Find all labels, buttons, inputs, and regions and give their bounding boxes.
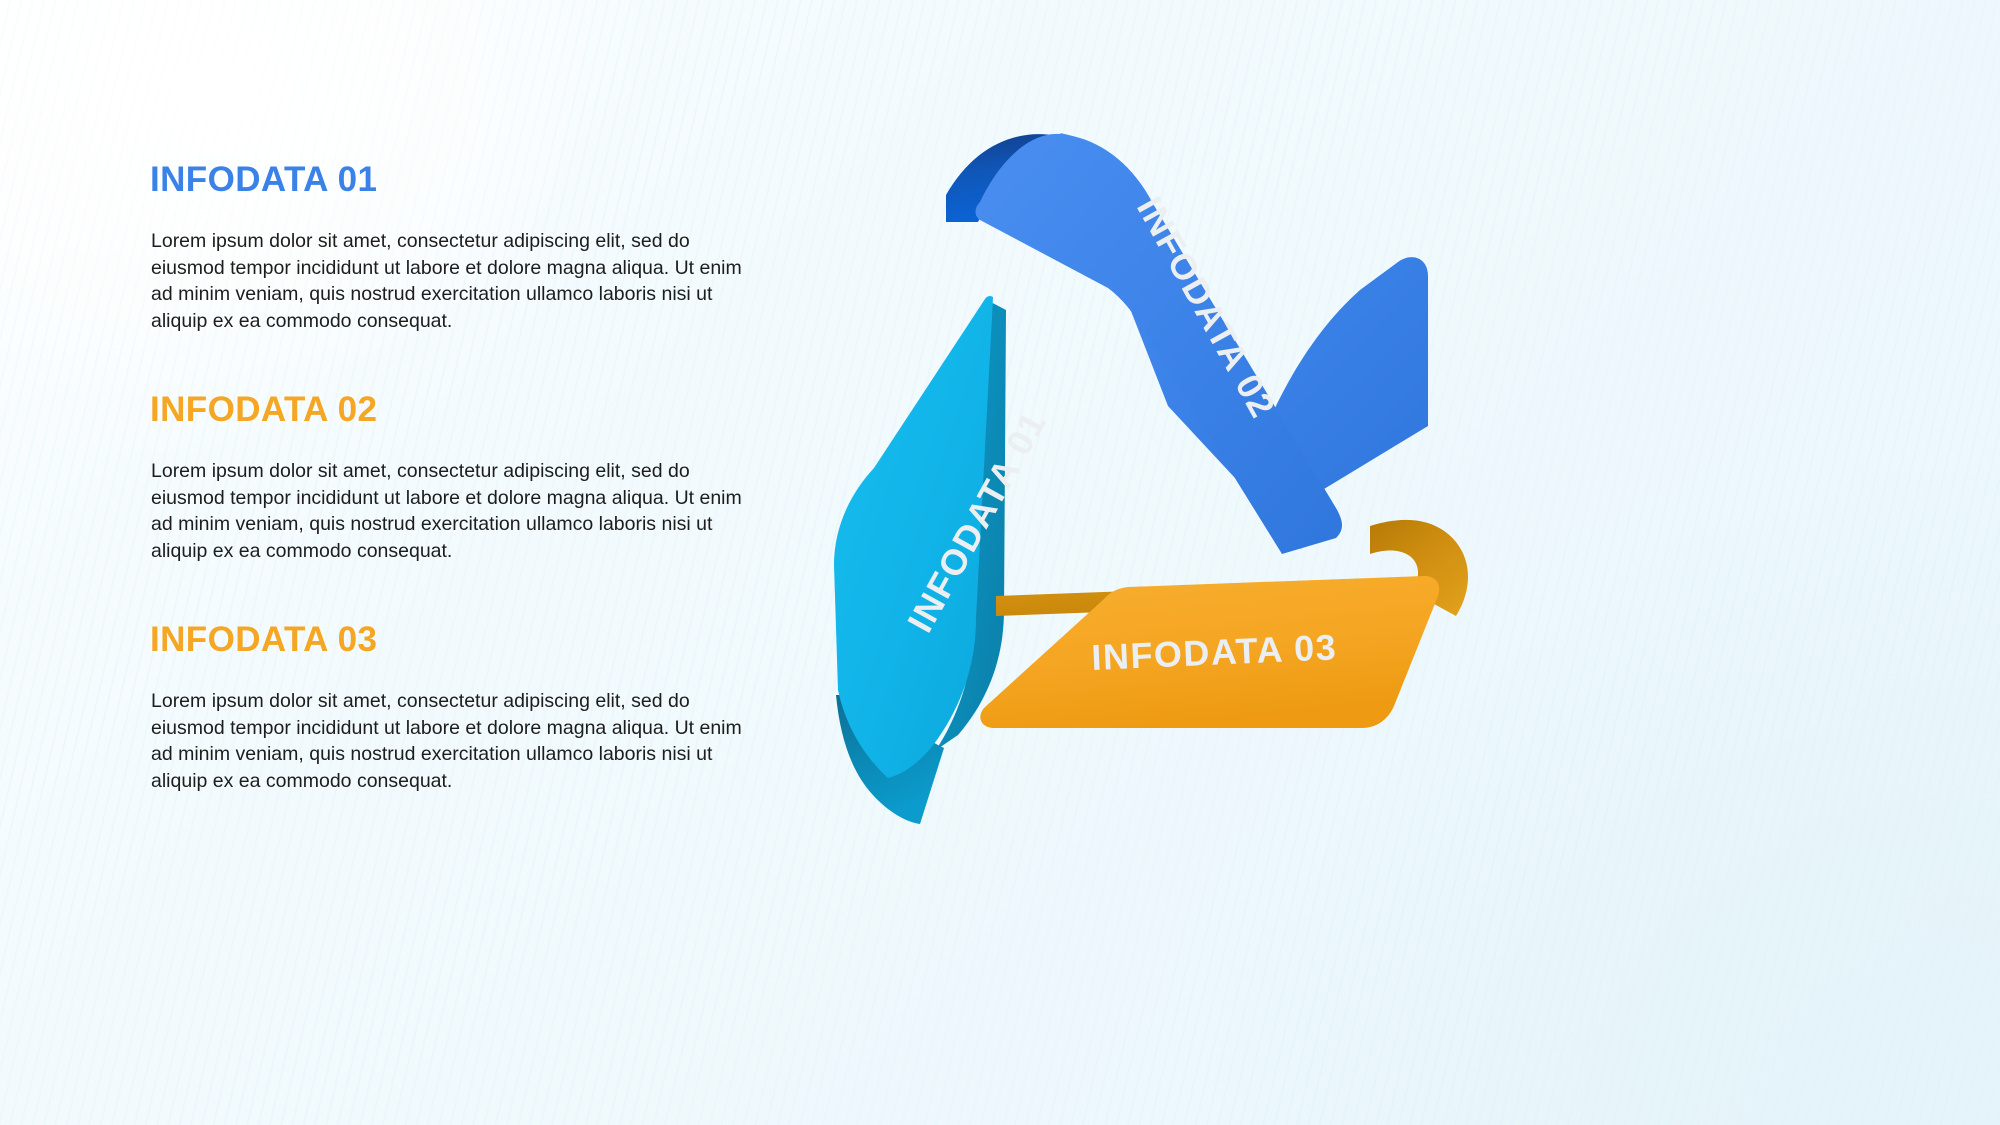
info-block-03: INFODATA 03 Lorem ipsum dolor sit amet, … [150, 620, 770, 794]
info-heading-01: INFODATA 01 [150, 160, 770, 200]
info-body-03: Lorem ipsum dolor sit amet, consectetur … [150, 688, 750, 794]
info-block-01: INFODATA 01 Lorem ipsum dolor sit amet, … [150, 160, 770, 334]
ribbon-infodata-03[interactable]: INFODATA 03 [980, 520, 1468, 728]
ribbon-infodata-02[interactable]: INFODATA 02 [946, 133, 1428, 554]
info-block-02: INFODATA 02 Lorem ipsum dolor sit amet, … [150, 390, 770, 564]
info-body-02: Lorem ipsum dolor sit amet, consectetur … [150, 458, 750, 564]
info-heading-03: INFODATA 03 [150, 620, 770, 660]
info-body-01: Lorem ipsum dolor sit amet, consectetur … [150, 228, 750, 334]
info-text-column: INFODATA 01 Lorem ipsum dolor sit amet, … [150, 160, 770, 794]
cycle-ribbon-diagram: INFODATA 01 INFODATA 02 INFODATA 03 [900, 110, 1900, 910]
info-heading-02: INFODATA 02 [150, 390, 770, 430]
